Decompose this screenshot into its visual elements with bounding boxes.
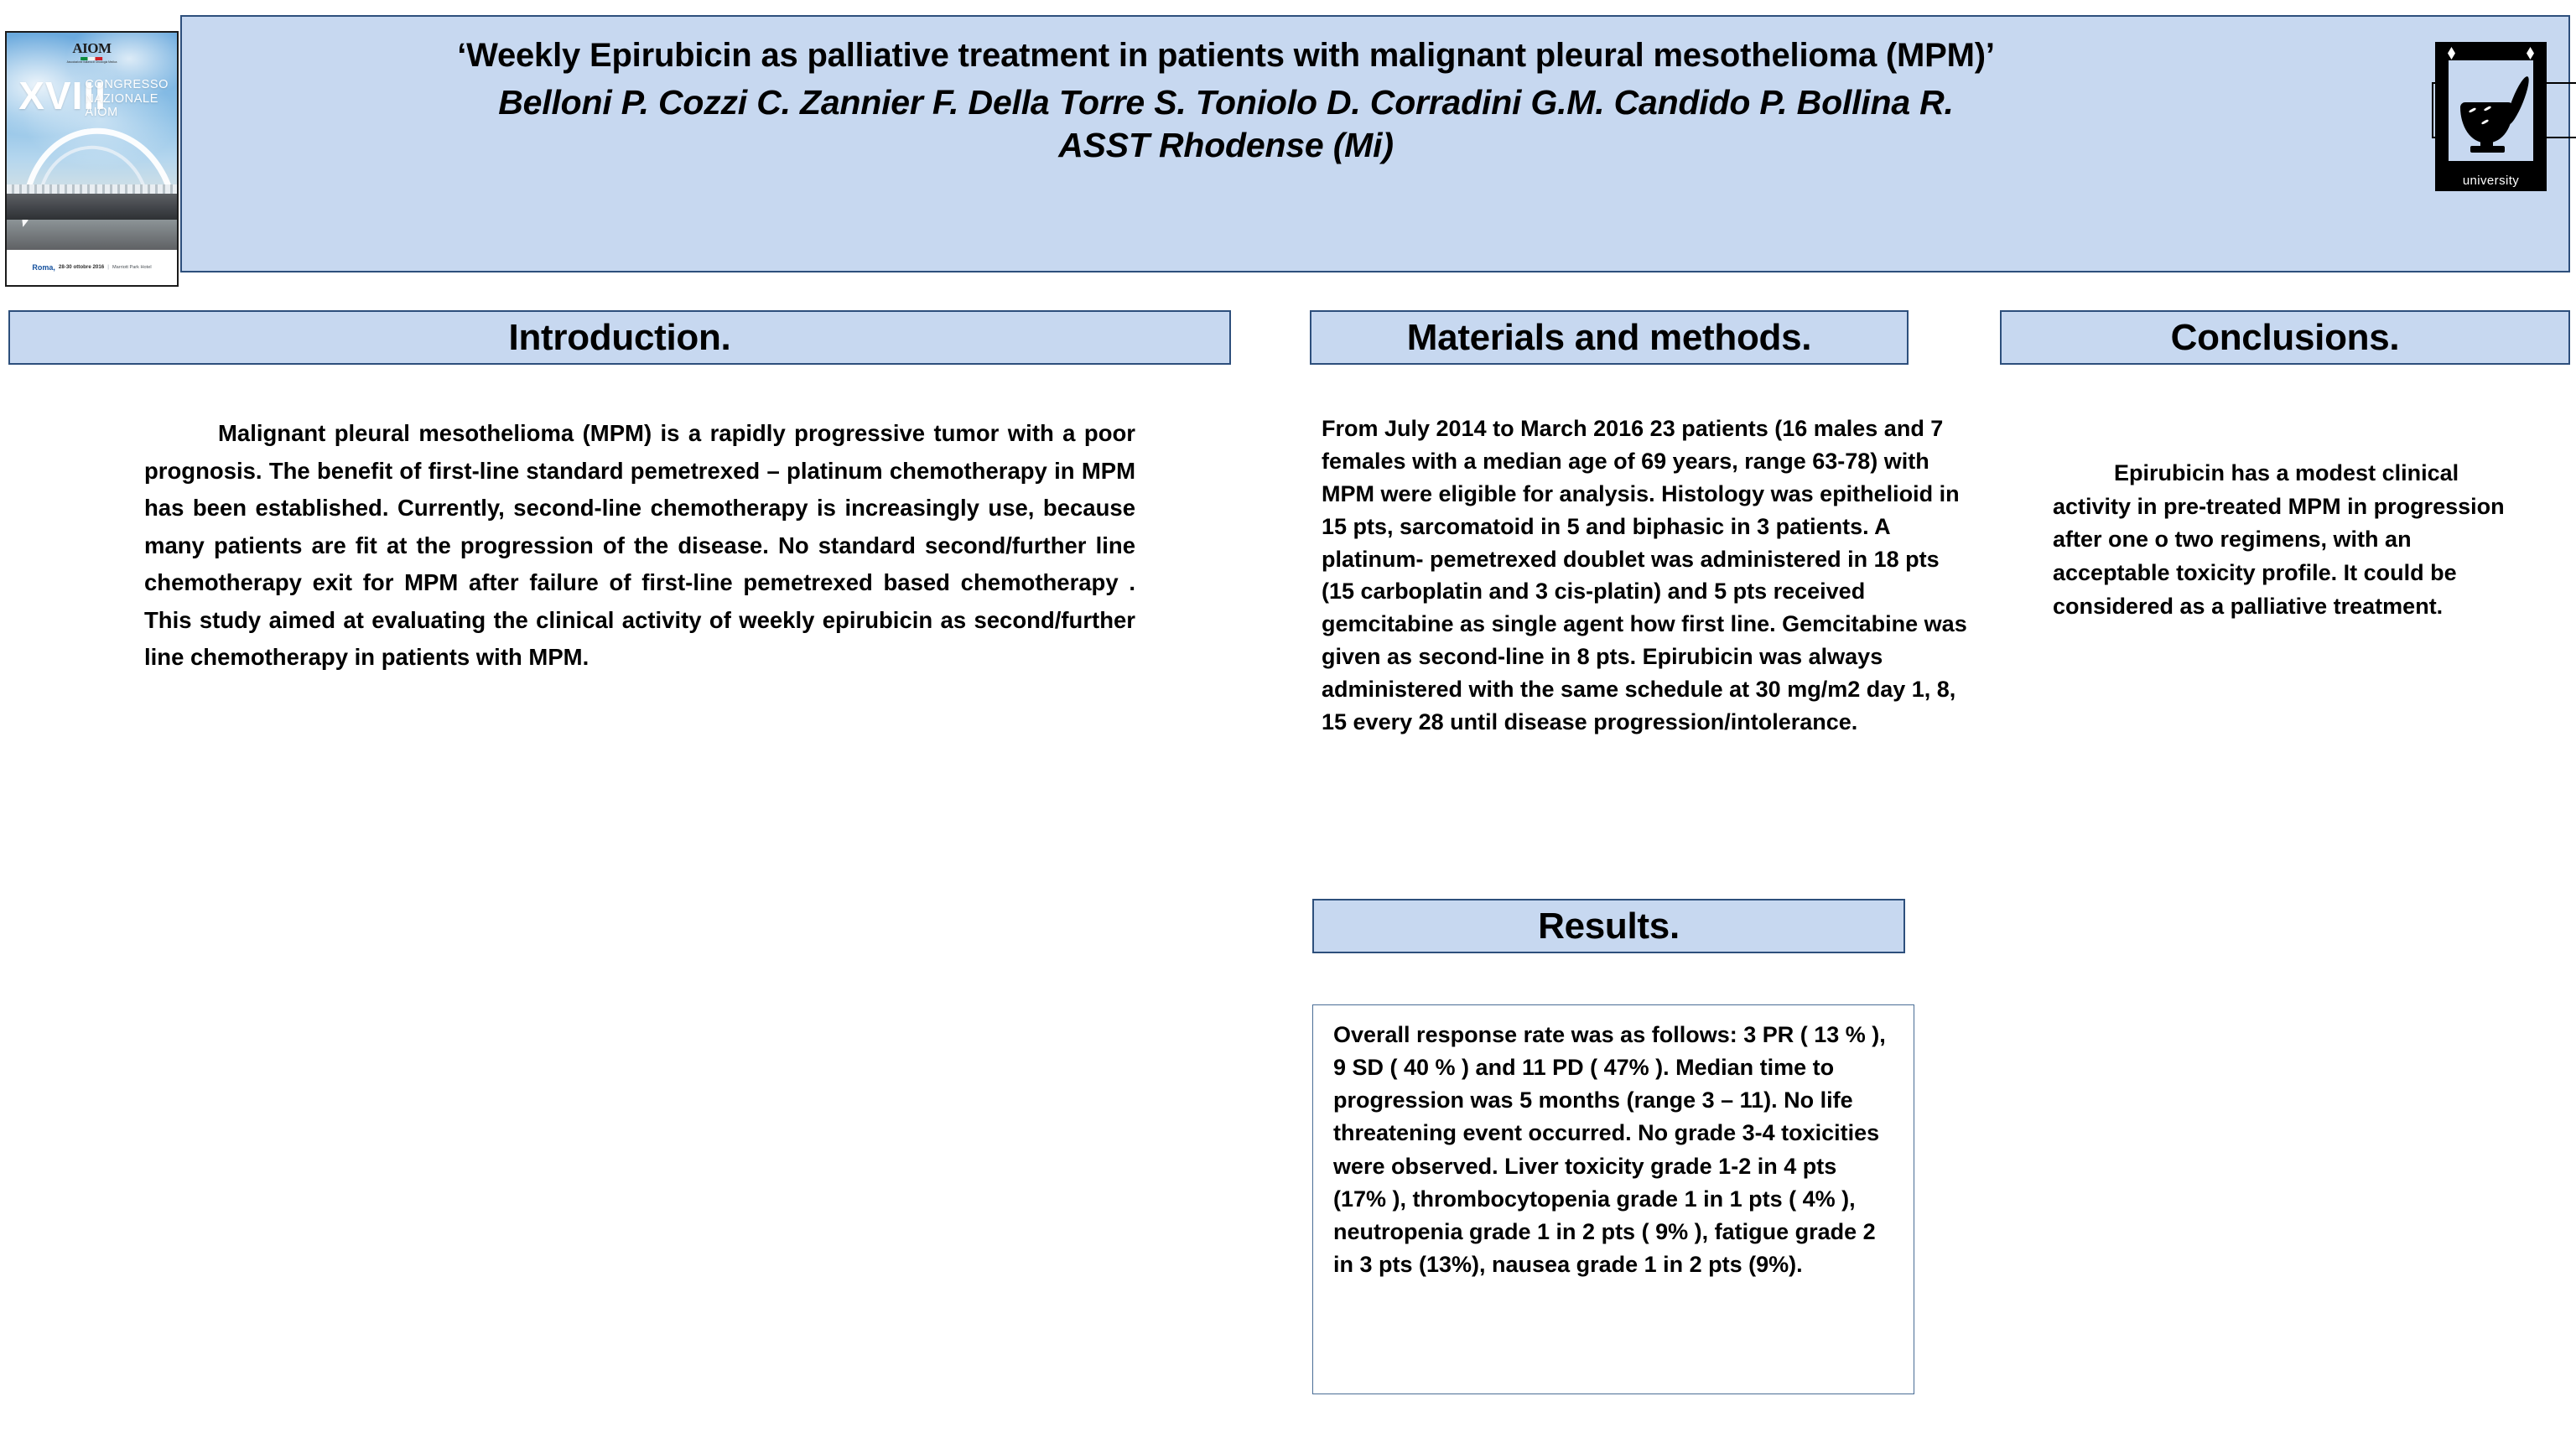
results-text-box: Overall response rate was as follows: 3 … xyxy=(1312,1004,1914,1394)
affiliation: ASST Rhodense (Mi) xyxy=(308,124,2144,167)
university-logo-label: university xyxy=(2435,174,2547,188)
mortar-base-shape xyxy=(2470,146,2504,153)
poster-footer-venue: Marriott Park Hotel xyxy=(112,265,152,270)
poster-footer-city: Roma, xyxy=(32,263,55,272)
aiom-logo-subtitle: Associazione Italiana di Oncologia Medic… xyxy=(67,61,117,64)
aiom-logo-word: AIOM xyxy=(72,40,111,56)
section-title-materials-and-methods: Materials and methods. xyxy=(1407,317,1811,359)
university-logo: university xyxy=(2435,42,2547,191)
section-title-conclusions: Conclusions. xyxy=(2171,317,2400,359)
section-title-introduction: Introduction. xyxy=(509,317,731,359)
poster-footer-dates: 28-30 ottobre 2016 xyxy=(59,264,104,270)
pill-shape-2 xyxy=(2484,106,2491,112)
bridge-railing-shape xyxy=(7,184,177,193)
bridge-photo: AIOM Associazione Italiana di Oncologia … xyxy=(7,33,177,250)
pill-shape-3 xyxy=(2481,119,2489,125)
poster-congress-title: CONGRESSO NAZIONALE AIOM xyxy=(85,78,169,119)
mortar-and-pestle-icon xyxy=(2449,60,2533,161)
diamond-decor-left-icon xyxy=(2448,47,2455,60)
poster-footer: Roma, 28-30 ottobre 2016 | Marriott Park… xyxy=(7,250,177,285)
bridge-deck-shape xyxy=(7,194,177,220)
section-title-results: Results. xyxy=(1538,906,1680,947)
pill-shape-1 xyxy=(2469,107,2476,113)
diamond-decor-right-icon xyxy=(2527,47,2534,60)
poster-header-banner: ‘Weekly Epirubicin as palliative treatme… xyxy=(180,15,2570,272)
author-list: Belloni P. Cozzi C. Zannier F. Della Tor… xyxy=(308,81,2144,124)
introduction-paragraph: Malignant pleural mesothelioma (MPM) is … xyxy=(144,415,1135,677)
results-paragraph: Overall response rate was as follows: 3 … xyxy=(1333,1019,1893,1281)
section-header-materials-and-methods: Materials and methods. xyxy=(1310,310,1909,365)
section-header-conclusions: Conclusions. xyxy=(2000,310,2570,365)
congress-poster-image: AIOM Associazione Italiana di Oncologia … xyxy=(5,31,179,287)
section-header-introduction: Introduction. xyxy=(8,310,1231,365)
materials-and-methods-paragraph: From July 2014 to March 2016 23 patients… xyxy=(1322,413,1967,739)
aiom-logo: AIOM Associazione Italiana di Oncologia … xyxy=(67,41,117,64)
conclusions-paragraph: Epirubicin has a modest clinical activit… xyxy=(2053,457,2519,623)
poster-congress-line-2: NAZIONALE xyxy=(85,92,169,106)
poster-congress-line-3: AIOM xyxy=(85,106,169,119)
mortar-shape xyxy=(2460,102,2513,143)
poster-footer-separator: | xyxy=(107,264,109,270)
title-block: ‘Weekly Epirubicin as palliative treatme… xyxy=(308,35,2144,167)
poster-congress-line-1: CONGRESSO xyxy=(85,78,169,91)
section-header-results: Results. xyxy=(1312,899,1905,953)
page-title: ‘Weekly Epirubicin as palliative treatme… xyxy=(308,35,2144,76)
